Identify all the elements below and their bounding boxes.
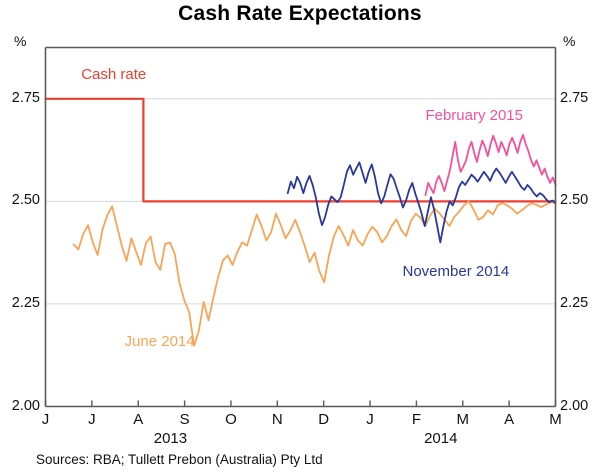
- x-axis-tick-label: O: [216, 411, 246, 428]
- y-axis-tick-label: 2.75: [0, 90, 40, 106]
- x-axis-tick-label: F: [401, 411, 431, 428]
- x-axis-tick-label: J: [77, 411, 107, 428]
- x-axis-tick-label: S: [170, 411, 200, 428]
- y-axis-tick-label: 2.50: [560, 192, 600, 208]
- x-axis-tick-label: A: [494, 411, 524, 428]
- x-axis-tick-label: A: [123, 411, 153, 428]
- chart-container: Cash Rate Expectations % % 2.002.252.502…: [0, 0, 600, 475]
- source-note: Sources: RBA; Tullett Prebon (Australia)…: [36, 452, 323, 467]
- series-label-june-2014: June 2014: [125, 333, 195, 350]
- x-axis-year-label: 2013: [135, 430, 205, 447]
- series-label-november-2014: November 2014: [403, 263, 510, 280]
- x-axis-tick-label: J: [355, 411, 385, 428]
- series-label-cash-rate: Cash rate: [81, 66, 146, 83]
- series-line-february-2015: [425, 135, 555, 195]
- x-axis-year-label: 2014: [406, 430, 476, 447]
- y-axis-tick-label: 2.50: [0, 192, 40, 208]
- y-axis-tick-label: 2.25: [0, 295, 40, 311]
- x-axis-tick-label: J: [31, 411, 61, 428]
- x-axis-tick-label: N: [262, 411, 292, 428]
- y-axis-tick-label: 2.25: [560, 295, 600, 311]
- y-axis-tick-label: 2.75: [560, 90, 600, 106]
- x-axis-tick-label: M: [448, 411, 478, 428]
- x-axis-tick-label: M: [541, 411, 571, 428]
- x-axis-tick-label: D: [309, 411, 339, 428]
- series-label-february-2015: February 2015: [425, 107, 523, 124]
